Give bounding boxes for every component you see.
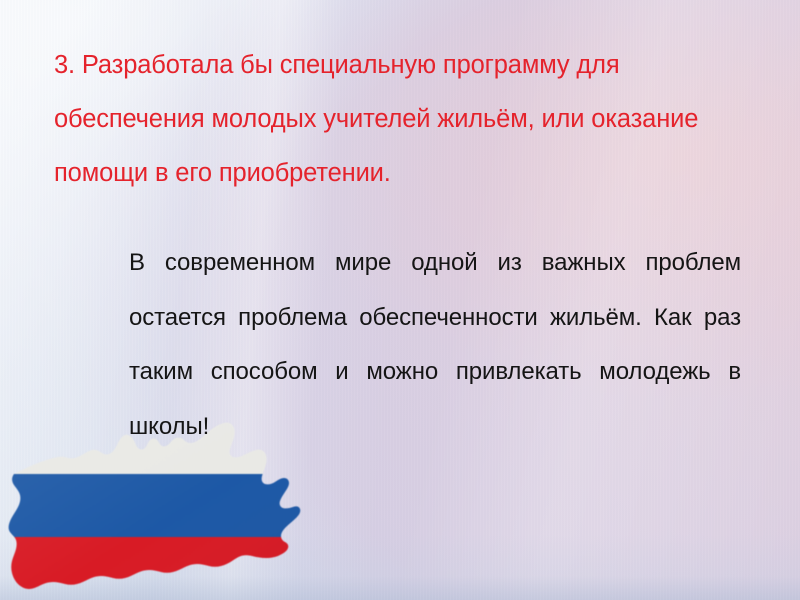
presentation-slide: 3. Разработала бы специальную программу … (0, 0, 800, 600)
slide-body-paragraph: В современном мире одной из важных пробл… (129, 236, 741, 454)
slide-heading: 3. Разработала бы специальную программу … (54, 38, 754, 200)
